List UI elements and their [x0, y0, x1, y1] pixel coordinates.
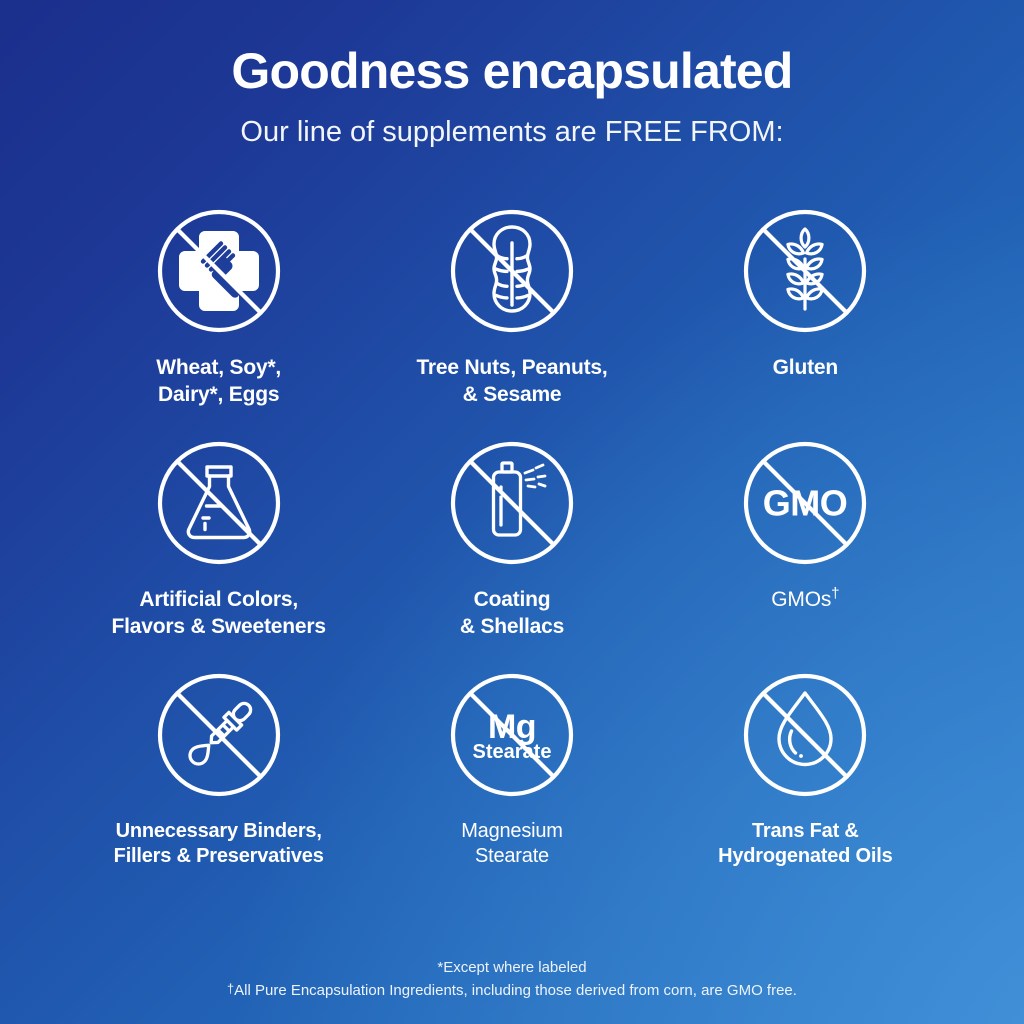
no-flask-icon	[153, 437, 285, 569]
grid-item-allergens: Wheat, Soy*, Dairy*, Eggs	[72, 205, 365, 409]
poster-canvas: Goodness encapsulated Our line of supple…	[0, 0, 1024, 1024]
grid-item-artificial-colors: Artificial Colors, Flavors & Sweeteners	[72, 437, 365, 641]
footnotes: *Except where labeled †All Pure Encapsul…	[0, 956, 1024, 1003]
no-allergens-fork-cross-icon	[153, 205, 285, 337]
no-magnesium-stearate-icon: Mg Stearate	[446, 669, 578, 801]
footnote-dagger-marker: †	[227, 981, 234, 996]
no-spray-can-icon	[446, 437, 578, 569]
footnote-asterisk: *Except where labeled	[0, 956, 1024, 979]
grid-item-magnesium-stearate: Mg Stearate Magnesium Stearate	[365, 669, 658, 870]
free-from-grid: Wheat, Soy*, Dairy*, Eggs	[72, 205, 952, 870]
grid-item-trans-fat: Trans Fat & Hydrogenated Oils	[659, 669, 952, 870]
page-title: Goodness encapsulated	[0, 44, 1024, 99]
grid-item-label-text: GMOs	[771, 588, 831, 611]
grid-item-nuts: Tree Nuts, Peanuts, & Sesame	[365, 205, 658, 409]
grid-item-label: Artificial Colors, Flavors & Sweeteners	[112, 587, 326, 641]
grid-item-gmo: GMO GMOs†	[659, 437, 952, 641]
grid-item-label-marker: †	[831, 585, 839, 602]
no-dropper-icon	[153, 669, 285, 801]
grid-item-label: Trans Fat & Hydrogenated Oils	[718, 819, 892, 870]
grid-item-label: Wheat, Soy*, Dairy*, Eggs	[156, 355, 281, 409]
no-oil-droplet-icon	[739, 669, 871, 801]
grid-item-label: GMOs†	[771, 587, 839, 614]
no-wheat-stalk-icon	[739, 205, 871, 337]
poster-header: Goodness encapsulated Our line of supple…	[0, 44, 1024, 149]
grid-item-label: Coating & Shellacs	[460, 587, 564, 641]
grid-item-label: Magnesium Stearate	[461, 819, 563, 870]
footnote-dagger-text: All Pure Encapsulation Ingredients, incl…	[234, 982, 797, 999]
grid-item-label: Unnecessary Binders, Fillers & Preservat…	[114, 819, 324, 870]
grid-item-binders: Unnecessary Binders, Fillers & Preservat…	[72, 669, 365, 870]
no-gmo-icon: GMO	[739, 437, 871, 569]
no-peanut-icon	[446, 205, 578, 337]
grid-item-label: Tree Nuts, Peanuts, & Sesame	[416, 355, 607, 409]
footnote-dagger: †All Pure Encapsulation Ingredients, inc…	[0, 979, 1024, 1002]
grid-item-coating: Coating & Shellacs	[365, 437, 658, 641]
grid-item-label: Gluten	[773, 355, 838, 382]
grid-item-gluten: Gluten	[659, 205, 952, 409]
page-subtitle: Our line of supplements are FREE FROM:	[0, 117, 1024, 149]
